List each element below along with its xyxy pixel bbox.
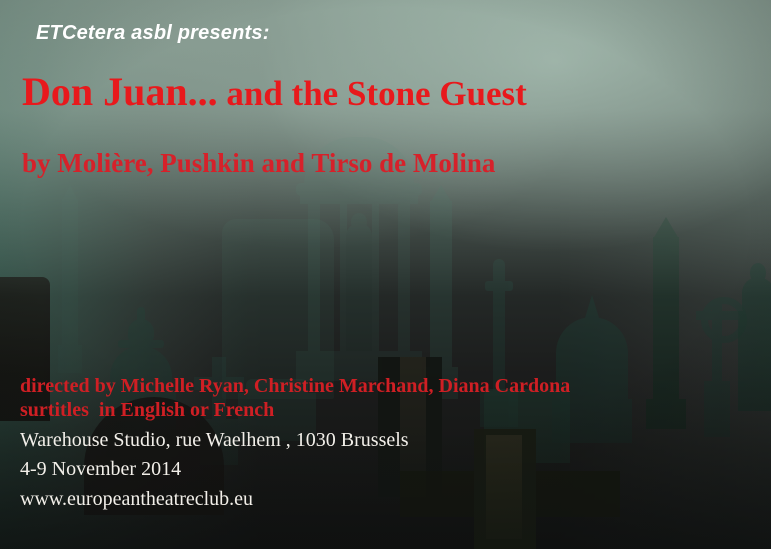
poster-title: Don Juan... and the Stone Guest bbox=[22, 72, 527, 112]
title-subtitle: and the Stone Guest bbox=[218, 74, 527, 113]
surtitles-line: surtitles in English or French bbox=[20, 398, 570, 422]
theatre-poster: ETCetera asbl presents: Don Juan... and … bbox=[0, 0, 771, 549]
credits-block: directed by Michelle Ryan, Christine Mar… bbox=[20, 374, 570, 511]
venue-line: Warehouse Studio, rue Waelhem , 1030 Bru… bbox=[20, 428, 570, 452]
poster-text-layer: ETCetera asbl presents: Don Juan... and … bbox=[0, 0, 771, 549]
presenter-line: ETCetera asbl presents: bbox=[36, 22, 270, 45]
dates-line: 4-9 November 2014 bbox=[20, 457, 570, 481]
title-main: Don Juan... bbox=[22, 69, 218, 114]
authors-byline: by Molière, Pushkin and Tirso de Molina bbox=[22, 148, 495, 179]
website-line: www.europeantheatreclub.eu bbox=[20, 487, 570, 511]
directed-by-line: directed by Michelle Ryan, Christine Mar… bbox=[20, 374, 570, 398]
